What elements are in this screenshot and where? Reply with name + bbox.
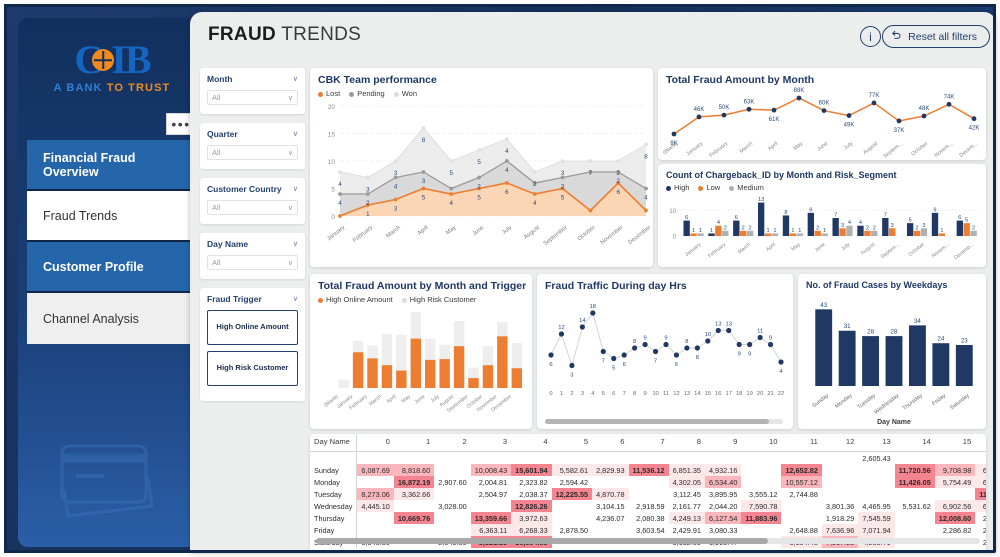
svg-text:18: 18: [736, 391, 742, 397]
table-cell: 7,636.96: [822, 524, 858, 536]
table-cell: 4,465.95: [858, 500, 894, 512]
table-cell: 2,648.88: [781, 524, 821, 536]
svg-text:4: 4: [450, 200, 454, 207]
svg-text:77K: 77K: [869, 93, 880, 99]
svg-text:13: 13: [726, 322, 732, 328]
svg-text:6: 6: [735, 215, 738, 221]
table-column-header[interactable]: Day Name: [310, 434, 357, 452]
svg-text:7: 7: [654, 359, 657, 365]
table-cell: 1,918.29: [822, 512, 858, 524]
table-cell: 3,972.63: [511, 512, 551, 524]
legend-item-high[interactable]: High: [666, 183, 689, 192]
slicer-fraud-trigger-header[interactable]: Fraud Trigger ∨: [207, 294, 298, 304]
svg-text:5: 5: [602, 391, 605, 397]
table-row-label: Thursday: [310, 512, 357, 524]
svg-text:4: 4: [848, 220, 851, 226]
table-cell: [705, 452, 741, 465]
slicer-fraud-trigger: Fraud Trigger ∨ High Online Amount High …: [200, 288, 305, 401]
table-column-header[interactable]: 12: [822, 434, 858, 452]
table-cell: 2,829.93: [592, 464, 628, 476]
slicer-month-dropdown[interactable]: All ∨: [207, 90, 298, 105]
chart-title: Fraud Traffic During day Hrs: [537, 274, 793, 292]
credit-card-icon: [56, 428, 166, 533]
table-column-header[interactable]: 15: [935, 434, 975, 452]
table-cell: [552, 512, 592, 524]
svg-text:Sunday: Sunday: [811, 393, 830, 410]
svg-text:24: 24: [937, 336, 944, 343]
table-cell: 4,932.16: [705, 464, 741, 476]
svg-text:October: October: [577, 225, 597, 242]
svg-text:3: 3: [922, 223, 925, 229]
table-cell: 7,071.94: [858, 524, 894, 536]
table-cell: [741, 524, 781, 536]
table-column-header[interactable]: 14: [895, 434, 935, 452]
svg-text:13: 13: [758, 197, 764, 203]
undo-icon: [891, 30, 902, 44]
slicer-day-name-value: All: [212, 258, 220, 267]
svg-text:June: June: [816, 141, 829, 153]
legend-item-won[interactable]: Won: [394, 89, 417, 98]
slicer-day-name-label: Day Name: [207, 239, 248, 249]
slicer-quarter: Quarter ∨ All ∨: [200, 123, 305, 169]
table-column-header[interactable]: 3: [471, 434, 511, 452]
slicer-month-value: All: [212, 93, 220, 102]
table-cell: 6,087.69: [357, 464, 394, 476]
table-cell: 4,302.05: [669, 476, 705, 488]
svg-text:9: 9: [643, 336, 646, 342]
table-column-header[interactable]: 7: [629, 434, 669, 452]
svg-text:Monday: Monday: [834, 393, 854, 410]
table-column-header[interactable]: 11: [781, 434, 821, 452]
svg-text:October: October: [910, 141, 929, 158]
svg-text:4: 4: [591, 391, 595, 397]
svg-text:1: 1: [798, 228, 801, 234]
svg-text:3: 3: [570, 373, 573, 379]
svg-text:20: 20: [757, 391, 763, 397]
table-cell: [822, 476, 858, 488]
table-row[interactable]: Thursday10,669.7613,359.663,972.634,236.…: [310, 512, 986, 524]
table-cell: 6,534.40: [705, 476, 741, 488]
svg-text:March: March: [737, 242, 752, 256]
slicer-customer-country-dropdown[interactable]: All ∨: [207, 200, 298, 215]
svg-text:0: 0: [331, 214, 335, 221]
svg-text:8: 8: [633, 339, 636, 345]
table-cell: 2,044.20: [705, 500, 741, 512]
legend-label: Pending: [357, 89, 385, 98]
slicer-quarter-dropdown[interactable]: All ∨: [207, 145, 298, 160]
table-row[interactable]: Sunday6,087.698,818.6010,008.4315,601.94…: [310, 464, 986, 476]
table-cell: [552, 452, 592, 465]
svg-text:September: September: [543, 225, 569, 247]
table-cell: 3,104.15: [592, 500, 628, 512]
slicer-day-name: Day Name ∨ All ∨: [200, 233, 305, 279]
table-cell: [935, 488, 975, 500]
chart-title: Total Fraud Amount by Month and Trigger: [310, 274, 532, 292]
legend-item-medium[interactable]: Medium: [729, 183, 764, 192]
table-cell: 11,375.20: [975, 488, 986, 500]
svg-text:8: 8: [633, 391, 636, 397]
svg-text:1: 1: [823, 228, 826, 234]
chevron-down-icon: ∨: [288, 149, 293, 157]
chart-legend: High Low Medium: [658, 180, 986, 192]
table-cell: 12,008.60: [935, 512, 975, 524]
dashboard-header: FRAUD TRENDS i Reset all filters: [190, 12, 996, 58]
svg-text:4: 4: [338, 181, 342, 188]
table-cell: [357, 476, 394, 488]
table-cell: 2,038.37: [511, 488, 551, 500]
table-cell: 2,429.91: [669, 524, 705, 536]
svg-text:9: 9: [748, 352, 751, 358]
svg-text:January: January: [685, 141, 704, 158]
svg-text:2: 2: [972, 225, 975, 231]
table-cell: 3,080.33: [705, 524, 741, 536]
table-cell: 8,273.06: [357, 488, 394, 500]
svg-text:12: 12: [558, 325, 564, 331]
slicer-day-name-dropdown[interactable]: All ∨: [207, 255, 298, 270]
svg-text:3: 3: [581, 391, 584, 397]
svg-text:1: 1: [699, 228, 702, 234]
traffic-horizontal-scrollbar[interactable]: [545, 419, 783, 424]
table-cell: 2,878.50: [552, 524, 592, 536]
table-cell: [895, 452, 935, 465]
table-cell: [741, 464, 781, 476]
page-title-bold: FRAUD: [208, 24, 276, 45]
table-cell: 2,286.82: [935, 524, 975, 536]
svg-text:April: April: [417, 225, 430, 237]
table-cell: [394, 500, 434, 512]
svg-text:2: 2: [570, 391, 573, 397]
legend-label: Won: [402, 89, 417, 98]
svg-text:88K: 88K: [794, 88, 805, 94]
svg-text:5: 5: [561, 195, 565, 202]
svg-text:January: January: [326, 225, 346, 242]
sidebar-item-label: Customer Profile: [43, 260, 144, 274]
table-cell: [552, 500, 592, 512]
table-cell: [394, 452, 434, 465]
sidebar-item-customer-profile[interactable]: Customer Profile: [27, 242, 191, 293]
table-cell: [781, 512, 821, 524]
svg-text:Novem...: Novem...: [931, 242, 951, 260]
svg-text:14: 14: [579, 318, 586, 324]
table-column-header[interactable]: 6: [592, 434, 628, 452]
table-column-header[interactable]: 16: [975, 434, 986, 452]
table-cell: 12,652.82: [781, 464, 821, 476]
table-cell: [858, 464, 894, 476]
svg-text:March: March: [385, 225, 401, 240]
svg-text:December: December: [627, 225, 652, 246]
table-cell: 3,895.95: [705, 488, 741, 500]
table-column-header[interactable]: 5: [552, 434, 592, 452]
table-cell: 7,590.78: [741, 500, 781, 512]
table-column-header[interactable]: 8: [669, 434, 705, 452]
svg-text:November: November: [600, 225, 625, 246]
svg-text:28: 28: [891, 329, 898, 336]
app-window: C IB A BANK TO TRUST ••• Financial Fraud…: [0, 0, 1000, 557]
svg-text:1: 1: [791, 228, 794, 234]
svg-text:June: June: [472, 225, 486, 237]
svg-text:2: 2: [616, 178, 620, 185]
fraud-trigger-option-high-online-amount[interactable]: High Online Amount: [207, 310, 298, 345]
slicer-customer-country-header[interactable]: Customer Country ∨: [207, 184, 298, 194]
slicer-customer-country-label: Customer Country: [207, 184, 282, 194]
table-cell: [741, 476, 781, 488]
svg-text:Saturday: Saturday: [949, 393, 970, 412]
table-cell: [592, 524, 628, 536]
chart-plot-area: (Blank)JanuaryFebruaryMarchAprilMayJuneJ…: [310, 304, 532, 422]
table-column-header[interactable]: 9: [705, 434, 741, 452]
table-column-header[interactable]: 1: [394, 434, 434, 452]
svg-text:1: 1: [940, 228, 943, 234]
svg-text:May: May: [445, 225, 457, 237]
svg-text:2: 2: [749, 225, 752, 231]
table-cell: [592, 476, 628, 488]
table-cell: 6,127.54: [705, 512, 741, 524]
table-cell: 6,109.18: [975, 500, 986, 512]
table-horizontal-scrollbar[interactable]: [316, 538, 980, 544]
svg-text:10: 10: [669, 209, 676, 215]
svg-text:0: 0: [549, 391, 552, 397]
svg-text:3: 3: [841, 223, 844, 229]
chevron-down-icon: ∨: [288, 94, 293, 102]
table-cell: [895, 512, 935, 524]
table-cell: 2,406.42: [975, 524, 986, 536]
svg-text:5: 5: [612, 366, 615, 372]
svg-text:Septem...: Septem...: [882, 141, 904, 159]
slicer-customer-country-value: All: [212, 203, 220, 212]
svg-text:6: 6: [612, 391, 615, 397]
table-cell: 16,872.19: [394, 476, 434, 488]
table-cell: 12,826.26: [511, 500, 551, 512]
table-cell: [822, 464, 858, 476]
svg-text:3: 3: [422, 178, 426, 185]
table-row[interactable]: Friday6,363.116,268.332,878.503,603.542,…: [310, 524, 986, 536]
table-cell: [394, 524, 434, 536]
table-cell: [895, 524, 935, 536]
svg-text:13: 13: [684, 391, 690, 397]
svg-text:22: 22: [778, 391, 784, 397]
svg-text:April: April: [767, 141, 779, 152]
table-cell: 3,028.00: [434, 500, 470, 512]
svg-text:11: 11: [757, 329, 763, 335]
svg-text:2: 2: [533, 181, 537, 188]
table-cell: [310, 452, 357, 465]
slicer-fraud-trigger-label: Fraud Trigger: [207, 294, 262, 304]
legend-item-high-online-amount[interactable]: High Online Amount: [318, 295, 393, 304]
sidebar-item-financial-fraud-overview[interactable]: Financial Fraud Overview: [27, 140, 191, 191]
legend-item-low[interactable]: Low: [698, 183, 720, 192]
svg-text:5: 5: [909, 218, 912, 224]
svg-text:2: 2: [742, 225, 745, 231]
table-cell: [434, 488, 470, 500]
svg-text:4: 4: [644, 195, 648, 202]
svg-text:2: 2: [561, 184, 565, 191]
svg-text:April: April: [385, 394, 397, 405]
table-cell: 6,363.11: [471, 524, 511, 536]
svg-text:7: 7: [884, 213, 887, 219]
svg-text:May: May: [400, 394, 412, 405]
slicer-month-label: Month: [207, 74, 233, 84]
table-row-label: Monday: [310, 476, 357, 488]
svg-text:61K: 61K: [769, 117, 780, 123]
table-column-header[interactable]: 2: [434, 434, 470, 452]
table-cell: [357, 452, 394, 465]
chart-title: CBK Team performance: [310, 68, 653, 86]
chevron-down-icon: ∨: [293, 240, 298, 248]
svg-text:Wednesday: Wednesday: [873, 393, 900, 416]
svg-text:14: 14: [694, 391, 701, 397]
svg-text:5: 5: [331, 187, 335, 194]
table-cell: 12,225.55: [552, 488, 592, 500]
table-cell: [434, 452, 470, 465]
table-cell: 10,008.43: [471, 464, 511, 476]
legend-label: Medium: [737, 183, 764, 192]
svg-text:10: 10: [705, 332, 711, 338]
table-cell: 4,870.78: [592, 488, 628, 500]
chart-card-fraud-amount-by-month-and-trigger: Total Fraud Amount by Month and Trigger …: [310, 274, 532, 429]
svg-text:6: 6: [685, 215, 688, 221]
fraud-amount-matrix-table: Day Name0123456789101112131415161718 2,6…: [310, 434, 986, 553]
table: Day Name0123456789101112131415161718 2,6…: [310, 434, 986, 548]
legend-item-high-risk-customer[interactable]: High Risk Customer: [402, 295, 477, 304]
table-cell: 2,504.97: [471, 488, 511, 500]
svg-text:April: April: [765, 242, 777, 253]
table-cell: 9,708.98: [935, 464, 975, 476]
svg-text:7: 7: [834, 213, 837, 219]
svg-text:1: 1: [773, 228, 776, 234]
svg-text:February: February: [707, 242, 727, 260]
svg-text:Novem...: Novem...: [934, 141, 955, 159]
svg-text:Decemb...: Decemb...: [953, 242, 975, 261]
table-cell: 4,445.10: [357, 500, 394, 512]
table-cell: 11,536.12: [629, 464, 669, 476]
svg-text:June: June: [414, 394, 427, 406]
svg-text:February: February: [352, 225, 374, 244]
svg-text:July: July: [501, 225, 513, 236]
svg-text:31: 31: [844, 323, 851, 330]
tagline-a-bank: A BANK: [54, 82, 107, 94]
table-cell: 2,605.43: [858, 452, 894, 465]
svg-text:6: 6: [623, 362, 626, 368]
svg-text:2: 2: [477, 184, 481, 191]
svg-text:12: 12: [673, 391, 679, 397]
chart-plot-area: 8K46K50K63K61K88K60K49K77K37K48K74K42K(B…: [658, 86, 986, 159]
brand-block: C IB A BANK TO TRUST: [18, 18, 206, 98]
slicer-day-name-header[interactable]: Day Name ∨: [207, 239, 298, 249]
table-cell: 4,236.07: [592, 512, 628, 524]
table-cell: 11,720.56: [895, 464, 935, 476]
table-row[interactable]: Monday16,872.192,907.602,004.812,323.822…: [310, 476, 986, 488]
svg-text:6: 6: [675, 362, 678, 368]
svg-text:Decem...: Decem...: [959, 141, 980, 159]
svg-text:10: 10: [328, 159, 336, 166]
svg-text:17: 17: [726, 391, 732, 397]
svg-text:74K: 74K: [944, 94, 955, 100]
chevron-down-icon: ∨: [293, 130, 298, 138]
table-cell: 15,601.94: [511, 464, 551, 476]
svg-text:8: 8: [696, 355, 699, 361]
table-cell: 3,801.36: [822, 500, 858, 512]
svg-text:6: 6: [549, 362, 552, 368]
table-cell: [511, 452, 551, 465]
svg-text:6: 6: [958, 215, 961, 221]
sidebar-item-label: Financial Fraud Overview: [43, 151, 191, 179]
svg-text:9: 9: [769, 336, 772, 342]
table-column-header[interactable]: 4: [511, 434, 551, 452]
svg-text:9: 9: [809, 207, 812, 213]
svg-text:2: 2: [866, 225, 869, 231]
fraud-trigger-option-high-risk-customer[interactable]: High Risk Customer: [207, 351, 298, 386]
info-icon[interactable]: i: [860, 26, 881, 47]
chart-plot-area: 43312828342423SundayMondayTuesdayWednesd…: [798, 290, 986, 428]
table-cell: 11,883.96: [741, 512, 781, 524]
sidebar-nav: Financial Fraud Overview Fraud Trends Cu…: [27, 140, 191, 344]
svg-text:4: 4: [779, 369, 783, 375]
table-cell: 2,918.59: [629, 500, 669, 512]
table-cell: [592, 452, 628, 465]
svg-text:3: 3: [366, 187, 370, 194]
table-cell: [629, 476, 669, 488]
svg-text:19: 19: [746, 391, 752, 397]
sidebar-item-fraud-trends[interactable]: Fraud Trends: [27, 191, 191, 242]
table-row[interactable]: Tuesday8,273.063,362.662,504.972,038.371…: [310, 488, 986, 500]
table-row: 2,605.43: [310, 452, 986, 465]
chart-card-chargeback-by-month-and-risk-segment: Count of Chargeback_ID by Month and Risk…: [658, 164, 986, 267]
svg-text:4: 4: [505, 148, 509, 155]
table-row-label: Friday: [310, 524, 357, 536]
legend-label: High Online Amount: [326, 295, 393, 304]
svg-text:9: 9: [738, 352, 741, 358]
table-cell: 2,004.81: [471, 476, 511, 488]
chart-plot-area: 05101520433855423728424324224135456456Ja…: [310, 98, 653, 258]
table-cell: 13,359.66: [471, 512, 511, 524]
table-row-label: Sunday: [310, 464, 357, 476]
table-row-label: Wednesday: [310, 500, 357, 512]
table-column-header[interactable]: 0: [357, 434, 394, 452]
slicer-customer-country: Customer Country ∨ All ∨: [200, 178, 305, 224]
table-cell: 10,669.76: [394, 512, 434, 524]
sidebar-item-channel-analysis[interactable]: Channel Analysis: [27, 293, 191, 344]
table-column-header[interactable]: 10: [741, 434, 781, 452]
slicer-quarter-value: All: [212, 148, 220, 157]
svg-text:5: 5: [422, 195, 426, 202]
table-column-header[interactable]: 13: [858, 434, 894, 452]
table-cell: [471, 452, 511, 465]
table-cell: 3,555.12: [741, 488, 781, 500]
slicer-quarter-header[interactable]: Quarter ∨: [207, 129, 298, 139]
table-cell: 2,065.90: [975, 512, 986, 524]
table-cell: 2,594.42: [552, 476, 592, 488]
slicer-month: Month ∨ All ∨: [200, 68, 305, 114]
table-cell: 3,603.54: [629, 524, 669, 536]
svg-text:February: February: [709, 141, 730, 159]
table-cell: [858, 476, 894, 488]
svg-text:June: June: [814, 242, 827, 254]
svg-text:9: 9: [933, 207, 936, 213]
svg-text:1: 1: [366, 211, 370, 218]
reset-all-filters-button[interactable]: Reset all filters: [882, 25, 990, 48]
cib-logo: C IB: [18, 40, 206, 80]
sidebar-item-label: Fraud Trends: [43, 209, 117, 223]
svg-text:28: 28: [867, 329, 874, 336]
table-row[interactable]: Wednesday4,445.103,028.0012,826.263,104.…: [310, 500, 986, 512]
table-cell: [357, 524, 394, 536]
legend-item-lost[interactable]: Lost: [318, 89, 340, 98]
chart-card-fraud-traffic-during-day-hrs: Fraud Traffic During day Hrs 61231418756…: [537, 274, 793, 429]
table-cell: 10,557.12: [781, 476, 821, 488]
slicer-quarter-label: Quarter: [207, 129, 238, 139]
slicer-month-header[interactable]: Month ∨: [207, 74, 298, 84]
legend-item-pending[interactable]: Pending: [349, 89, 385, 98]
